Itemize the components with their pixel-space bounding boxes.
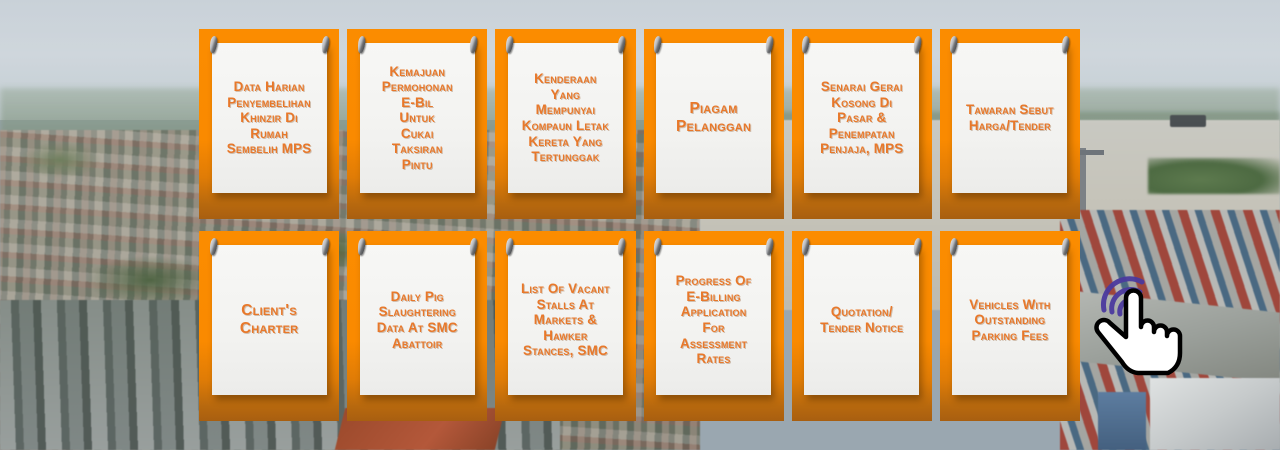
pushpin-icon [653,238,662,256]
service-tile-daily-pig-slaughtering-data[interactable]: Daily Pig Slaughtering Data At SMC Abatt… [347,231,487,421]
service-card[interactable]: Client's Charter [212,245,327,395]
pushpin-icon [653,36,662,54]
blue-office-building [1098,392,1146,450]
service-card[interactable]: Data Harian Penyembelihan Khinzir Di Rum… [212,43,327,193]
service-card-label: Tawaran Sebut Harga/Tender [966,102,1054,133]
service-card[interactable]: List Of Vacant Stalls At Markets & Hawke… [508,245,623,395]
river-barge [1170,115,1206,127]
service-tile-kenderaan-kompaun-letak-kereta[interactable]: Kenderaan Yang Mempunyai Kompaun Letak K… [495,29,635,219]
pushpin-icon [469,36,478,54]
service-card[interactable]: Piagam Pelanggan [656,43,771,193]
service-card[interactable]: Tawaran Sebut Harga/Tender [952,43,1067,193]
service-card-label: Daily Pig Slaughtering Data At SMC Abatt… [377,289,458,351]
service-card-label: Piagam Pelanggan [676,100,751,136]
pushpin-icon [320,36,329,54]
service-card-label: Senarai Gerai Kosong di Pasar & Penempat… [820,79,903,157]
service-card[interactable]: Kenderaan Yang Mempunyai Kompaun Letak K… [508,43,623,193]
service-card-label: Data Harian Penyembelihan Khinzir Di Rum… [227,79,312,157]
screenshot-stage: Data Harian Penyembelihan Khinzir Di Rum… [0,0,1280,450]
pushpin-icon [801,238,810,256]
service-tile-vehicles-outstanding-parking-fees[interactable]: Vehicles With Outstanding Parking Fees [940,231,1080,421]
port-crane-arm [1078,150,1104,155]
service-tile-kemajuan-permohonan-ebil[interactable]: Kemajuan Permohonan e-Bil Untuk Cukai Ta… [347,29,487,219]
pushpin-icon [913,238,922,256]
service-grid: Data Harian Penyembelihan Khinzir Di Rum… [199,29,1080,421]
service-tile-data-harian-penyembelihan[interactable]: Data Harian Penyembelihan Khinzir Di Rum… [199,29,339,219]
pushpin-icon [949,238,958,256]
service-card[interactable]: Senarai Gerai Kosong di Pasar & Penempat… [804,43,919,193]
pushpin-icon [949,36,958,54]
service-card-label: Client's Charter [240,302,298,338]
service-card[interactable]: Progress Of e-Billing Application For As… [656,245,771,395]
pushpin-icon [913,36,922,54]
pushpin-icon [357,238,366,256]
pushpin-icon [1061,36,1070,54]
service-tile-list-of-vacant-stalls[interactable]: List Of Vacant Stalls At Markets & Hawke… [495,231,635,421]
service-card[interactable]: Kemajuan Permohonan e-Bil Untuk Cukai Ta… [360,43,475,193]
service-card-label: List Of Vacant Stalls At Markets & Hawke… [521,281,610,359]
pushpin-icon [617,238,626,256]
pushpin-icon [469,238,478,256]
service-card-label: Vehicles With Outstanding Parking Fees [969,297,1050,344]
pushpin-icon [765,36,774,54]
service-tile-senarai-gerai-kosong[interactable]: Senarai Gerai Kosong di Pasar & Penempat… [792,29,932,219]
service-card-label: Kemajuan Permohonan e-Bil Untuk Cukai Ta… [382,64,453,173]
service-card[interactable]: Vehicles With Outstanding Parking Fees [952,245,1067,395]
pushpin-icon [801,36,810,54]
service-tile-quotation-tender-notice[interactable]: Quotation/ Tender Notice [792,231,932,421]
service-tile-tawaran-sebut-harga-tender[interactable]: Tawaran Sebut Harga/Tender [940,29,1080,219]
service-card-label: Quotation/ Tender Notice [820,304,903,335]
service-card-label: Kenderaan Yang Mempunyai Kompaun Letak K… [522,71,609,164]
white-office-building [1150,378,1280,450]
service-card[interactable]: Quotation/ Tender Notice [804,245,919,395]
pushpin-icon [208,238,217,256]
service-card[interactable]: Daily Pig Slaughtering Data At SMC Abatt… [360,245,475,395]
service-tile-piagam-pelanggan[interactable]: Piagam Pelanggan [644,29,784,219]
service-tile-clients-charter[interactable]: Client's Charter [199,231,339,421]
pushpin-icon [505,36,514,54]
pushpin-icon [320,238,329,256]
service-tile-progress-of-ebilling[interactable]: Progress Of e-Billing Application For As… [644,231,784,421]
pushpin-icon [505,238,514,256]
pushpin-icon [1061,238,1070,256]
river-green-spit [1148,158,1280,194]
pushpin-icon [357,36,366,54]
pushpin-icon [617,36,626,54]
pushpin-icon [208,36,217,54]
pushpin-icon [765,238,774,256]
service-card-label: Progress Of e-Billing Application For As… [676,273,752,366]
